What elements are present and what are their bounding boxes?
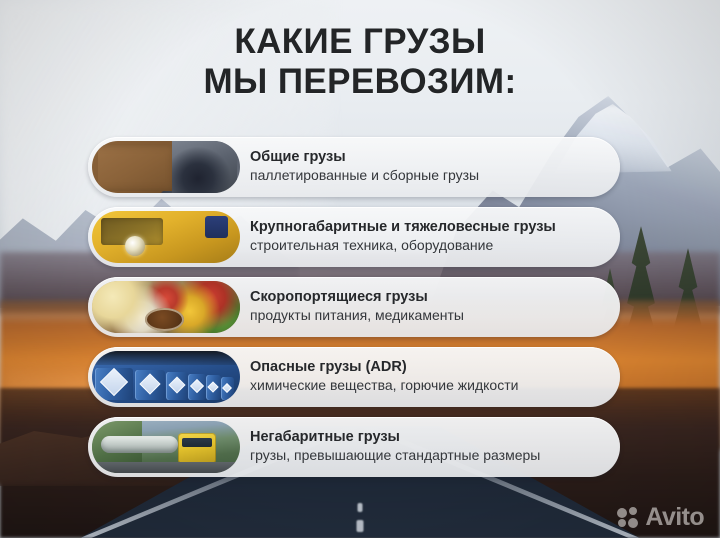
cargo-subtitle: химические вещества, горючие жидкости [250, 377, 606, 395]
oversize-cylinder-load [101, 436, 178, 454]
thumb-hazardous-drums [92, 351, 240, 403]
cargo-card-hazardous: Опасные грузы (ADR) химические вещества,… [88, 347, 620, 407]
thumb-oversize-truck [92, 421, 240, 473]
cargo-subtitle: паллетированные и сборные грузы [250, 167, 606, 185]
chemical-drums-image [92, 351, 240, 403]
cargo-subtitle: грузы, превышающие стандартные размеры [250, 447, 606, 465]
chemical-drum [221, 377, 234, 400]
road-strip [92, 462, 240, 473]
boxes-and-worker-image [92, 141, 240, 193]
truck-cab [178, 433, 216, 463]
construction-machine-image [92, 211, 240, 263]
avito-wordmark: Avito [645, 505, 704, 530]
avito-dots-icon [617, 507, 639, 529]
thumb-perishable-food [92, 281, 240, 333]
chemical-drum [166, 372, 188, 400]
cargo-title: Опасные грузы (ADR) [250, 359, 606, 376]
cargo-subtitle: строительная техника, оборудование [250, 237, 606, 255]
avito-watermark: Avito [617, 505, 704, 530]
cargo-card-text: Скоропортящиеся грузы продукты питания, … [240, 289, 620, 325]
cargo-card-oversize-heavy: Крупногабаритные и тяжеловесные грузы ст… [88, 207, 620, 267]
chemical-drum [206, 375, 221, 399]
cargo-card-general: Общие грузы паллетированные и сборные гр… [88, 137, 620, 197]
headline-line-1: КАКИЕ ГРУЗЫ [0, 22, 720, 62]
cargo-title: Скоропортящиеся грузы [250, 289, 606, 306]
oversize-truck-image [92, 421, 240, 473]
cargo-card-nonstandard: Негабаритные грузы грузы, превышающие ст… [88, 417, 620, 477]
fresh-produce-image [92, 281, 240, 333]
headline-line-2: МЫ ПЕРЕВОЗИМ: [0, 62, 720, 102]
thumb-heavy-machinery [92, 211, 240, 263]
cargo-card-perishable: Скоропортящиеся грузы продукты питания, … [88, 277, 620, 337]
cargo-card-text: Общие грузы паллетированные и сборные гр… [240, 149, 620, 185]
chemical-drum [135, 370, 165, 400]
chemical-drum [188, 374, 206, 400]
poster-headline: КАКИЕ ГРУЗЫ МЫ ПЕРЕВОЗИМ: [0, 22, 720, 102]
cargo-subtitle: продукты питания, медикаменты [250, 307, 606, 325]
cargo-card-text: Негабаритные грузы грузы, превышающие ст… [240, 429, 620, 465]
thumb-general-cargo-boxes [92, 141, 240, 193]
chemical-drum [95, 368, 133, 400]
advertisement-poster: КАКИЕ ГРУЗЫ МЫ ПЕРЕВОЗИМ: Общие грузы па… [0, 0, 720, 538]
machine-headlamp [125, 236, 145, 256]
cargo-title: Общие грузы [250, 149, 606, 166]
cargo-title: Крупногабаритные и тяжеловесные грузы [250, 219, 606, 236]
cargo-card-text: Крупногабаритные и тяжеловесные грузы ст… [240, 219, 620, 255]
cargo-card-text: Опасные грузы (ADR) химические вещества,… [240, 359, 620, 395]
cargo-type-list: Общие грузы паллетированные и сборные гр… [88, 137, 620, 477]
cargo-title: Негабаритные грузы [250, 429, 606, 446]
